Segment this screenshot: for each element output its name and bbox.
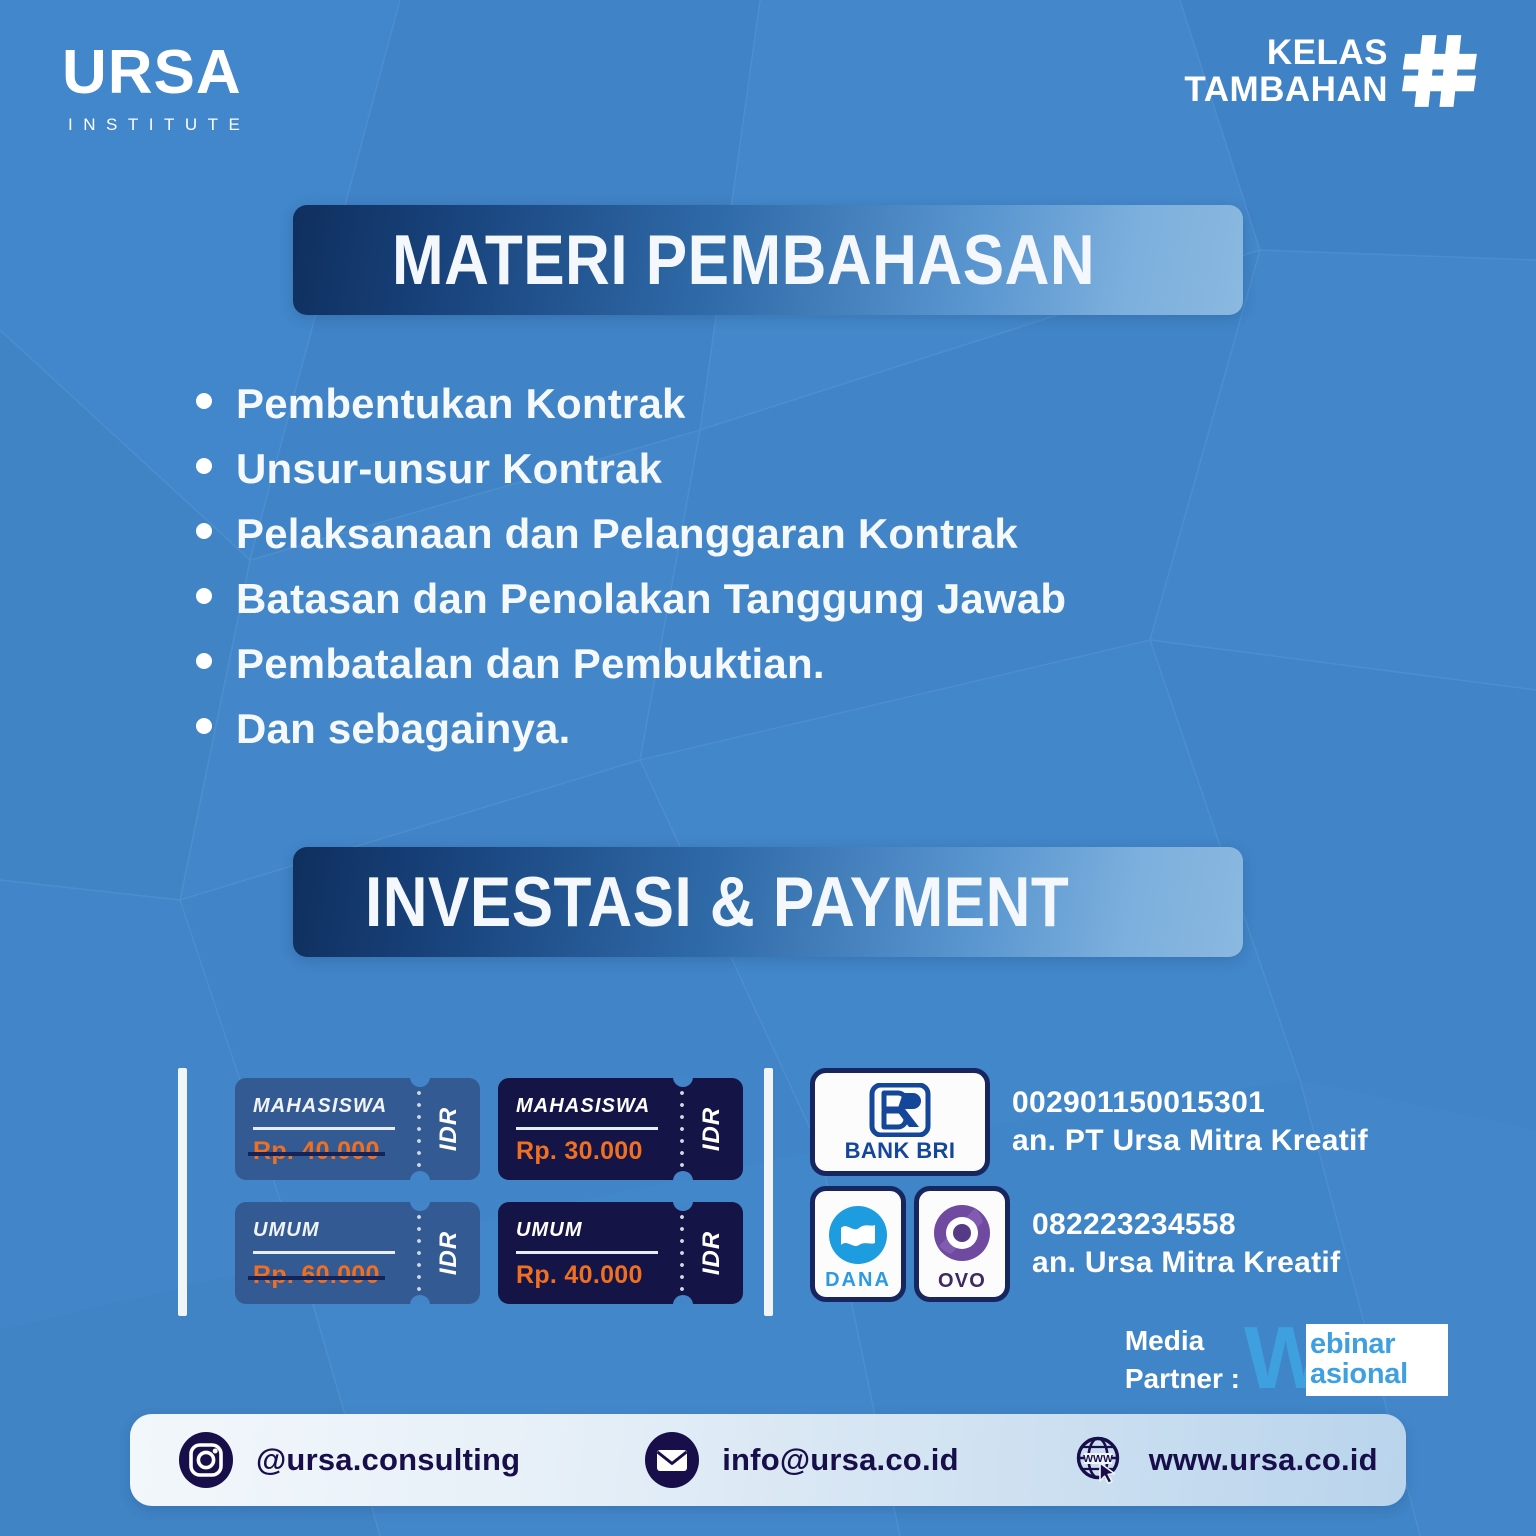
- bank-account-details: 002901150015301 an. PT Ursa Mitra Kreati…: [1012, 1084, 1368, 1160]
- section-title-materi: MATERI PEMBAHASAN: [293, 220, 1095, 301]
- bank-account-holder: an. PT Ursa Mitra Kreatif: [1012, 1122, 1368, 1160]
- dana-mark-icon: [826, 1203, 890, 1267]
- brand-logo-wordmark: URSA: [62, 42, 250, 104]
- webinar-logo-line2: asional: [1310, 1360, 1448, 1390]
- ticket-stub: IDR: [681, 1078, 743, 1180]
- divider-right: [764, 1068, 773, 1316]
- media-partner-label: Media Partner :: [1125, 1322, 1240, 1398]
- kelas-tambahan-text: KELAS TAMBAHAN: [1184, 34, 1388, 108]
- ticket-category: MAHASISWA: [253, 1095, 418, 1118]
- brand-logo: URSA INSTITUTE: [62, 42, 250, 135]
- ticket-category: MAHASISWA: [516, 1095, 681, 1118]
- topic-label: Batasan dan Penolakan Tanggung Jawab: [236, 577, 1066, 621]
- perforation-icon: [680, 1211, 684, 1295]
- ewallet-logo-group: DANA OVO: [810, 1186, 1010, 1302]
- ticket-card-mahasiswa-old: MAHASISWA Rp. 40.000 IDR: [235, 1078, 480, 1180]
- contact-website[interactable]: WWW www.ursa.co.id: [1071, 1432, 1378, 1488]
- ticket-rule: [516, 1127, 658, 1130]
- ticket-stub: IDR: [681, 1202, 743, 1304]
- ticket-price-new: Rp. 40.000: [516, 1261, 643, 1290]
- perforation-icon: [680, 1087, 684, 1171]
- ticket-currency: IDR: [435, 1107, 463, 1151]
- bullet-dot-icon: [196, 718, 212, 734]
- bullet-dot-icon: [196, 393, 212, 409]
- media-partner-label-line2: Partner :: [1125, 1360, 1240, 1398]
- bullet-dot-icon: [196, 588, 212, 604]
- contact-instagram[interactable]: @ursa.consulting: [178, 1432, 520, 1488]
- list-item: Pembentukan Kontrak: [196, 382, 1066, 426]
- ticket-card-mahasiswa-new: MAHASISWA Rp. 30.000 IDR: [498, 1078, 743, 1180]
- website-url: www.ursa.co.id: [1149, 1442, 1378, 1478]
- hash-icon: [1402, 32, 1480, 110]
- bri-mark-icon: [869, 1083, 931, 1137]
- webinar-nasional-logo: W ebinar asional: [1244, 1318, 1448, 1402]
- media-partner-label-line1: Media: [1125, 1322, 1240, 1360]
- bank-account-number: 002901150015301: [1012, 1084, 1368, 1122]
- ewallet-account-holder: an. Ursa Mitra Kreatif: [1032, 1244, 1340, 1282]
- topic-label: Pembatalan dan Pembuktian.: [236, 642, 825, 686]
- ticket-body: MAHASISWA Rp. 30.000: [498, 1078, 681, 1180]
- ovo-label: OVO: [938, 1270, 986, 1293]
- ticket-rule: [253, 1251, 395, 1254]
- ticket-stub: IDR: [418, 1078, 480, 1180]
- ticket-currency: IDR: [435, 1231, 463, 1275]
- contact-footer-bar: @ursa.consulting info@ursa.co.id WWW www…: [130, 1414, 1406, 1506]
- kelas-tambahan-badge: KELAS TAMBAHAN: [1184, 32, 1480, 110]
- ticket-category: UMUM: [253, 1219, 418, 1242]
- webinar-logo-line1: ebinar: [1310, 1330, 1448, 1360]
- section-title-investasi: INVESTASI & PAYMENT: [293, 862, 1069, 943]
- ewallet-account-details: 082223234558 an. Ursa Mitra Kreatif: [1032, 1206, 1340, 1282]
- ticket-price-old: Rp. 40.000: [253, 1137, 380, 1166]
- badge-line-1: KELAS: [1184, 34, 1388, 71]
- email-address: info@ursa.co.id: [722, 1442, 958, 1478]
- topic-list: Pembentukan Kontrak Unsur-unsur Kontrak …: [196, 382, 1066, 773]
- bullet-dot-icon: [196, 523, 212, 539]
- dana-logo: DANA: [810, 1186, 906, 1302]
- ticket-stub: IDR: [418, 1202, 480, 1304]
- list-item: Batasan dan Penolakan Tanggung Jawab: [196, 577, 1066, 621]
- divider-left: [178, 1068, 187, 1316]
- payment-methods: BANK BRI 002901150015301 an. PT Ursa Mit…: [810, 1068, 1368, 1312]
- badge-line-2: TAMBAHAN: [1184, 71, 1388, 108]
- bullet-dot-icon: [196, 458, 212, 474]
- topic-label: Pelaksanaan dan Pelanggaran Kontrak: [236, 512, 1018, 556]
- bank-bri-label: BANK BRI: [845, 1138, 956, 1164]
- bank-bri-logo: BANK BRI: [810, 1068, 990, 1176]
- bullet-dot-icon: [196, 653, 212, 669]
- ticket-body: MAHASISWA Rp. 40.000: [235, 1078, 418, 1180]
- ticket-rule: [253, 1127, 395, 1130]
- ovo-logo: OVO: [914, 1186, 1010, 1302]
- brand-logo-subtitle: INSTITUTE: [68, 115, 250, 135]
- payment-row-ewallet: DANA OVO 082223234558 an. Ursa Mitra Kre…: [810, 1186, 1368, 1302]
- ticket-price-new: Rp. 30.000: [516, 1137, 643, 1166]
- webinar-logo-box: ebinar asional: [1306, 1324, 1448, 1396]
- ticket-card-umum-old: UMUM Rp. 60.000 IDR: [235, 1202, 480, 1304]
- payment-row-bank: BANK BRI 002901150015301 an. PT Ursa Mit…: [810, 1068, 1368, 1176]
- ticket-price-grid: MAHASISWA Rp. 40.000 IDR MAHASISWA Rp. 3…: [235, 1078, 743, 1304]
- globe-www-icon: WWW: [1071, 1432, 1127, 1488]
- envelope-icon: [644, 1432, 700, 1488]
- dana-label: DANA: [825, 1269, 891, 1292]
- ticket-currency: IDR: [698, 1107, 726, 1151]
- contact-email[interactable]: info@ursa.co.id: [644, 1432, 958, 1488]
- list-item: Unsur-unsur Kontrak: [196, 447, 1066, 491]
- list-item: Dan sebagainya.: [196, 707, 1066, 751]
- perforation-icon: [417, 1211, 421, 1295]
- ticket-rule: [516, 1251, 658, 1254]
- ticket-body: UMUM Rp. 40.000: [498, 1202, 681, 1304]
- ticket-body: UMUM Rp. 60.000: [235, 1202, 418, 1304]
- ewallet-phone-number: 082223234558: [1032, 1206, 1340, 1244]
- section-banner-investasi: INVESTASI & PAYMENT: [293, 847, 1243, 957]
- topic-label: Pembentukan Kontrak: [236, 382, 686, 426]
- ticket-card-umum-new: UMUM Rp. 40.000 IDR: [498, 1202, 743, 1304]
- ticket-category: UMUM: [516, 1219, 681, 1242]
- svg-text:WWW: WWW: [1083, 1453, 1113, 1465]
- topic-label: Unsur-unsur Kontrak: [236, 447, 662, 491]
- list-item: Pelaksanaan dan Pelanggaran Kontrak: [196, 512, 1066, 556]
- instagram-handle: @ursa.consulting: [256, 1442, 520, 1478]
- ovo-mark-icon: [931, 1202, 993, 1264]
- topic-label: Dan sebagainya.: [236, 707, 570, 751]
- ticket-currency: IDR: [698, 1231, 726, 1275]
- section-banner-materi: MATERI PEMBAHASAN: [293, 205, 1243, 315]
- perforation-icon: [417, 1087, 421, 1171]
- instagram-icon: [178, 1432, 234, 1488]
- ticket-price-old: Rp. 60.000: [253, 1261, 380, 1290]
- media-partner: Media Partner : W ebinar asional: [1125, 1318, 1448, 1402]
- list-item: Pembatalan dan Pembuktian.: [196, 642, 1066, 686]
